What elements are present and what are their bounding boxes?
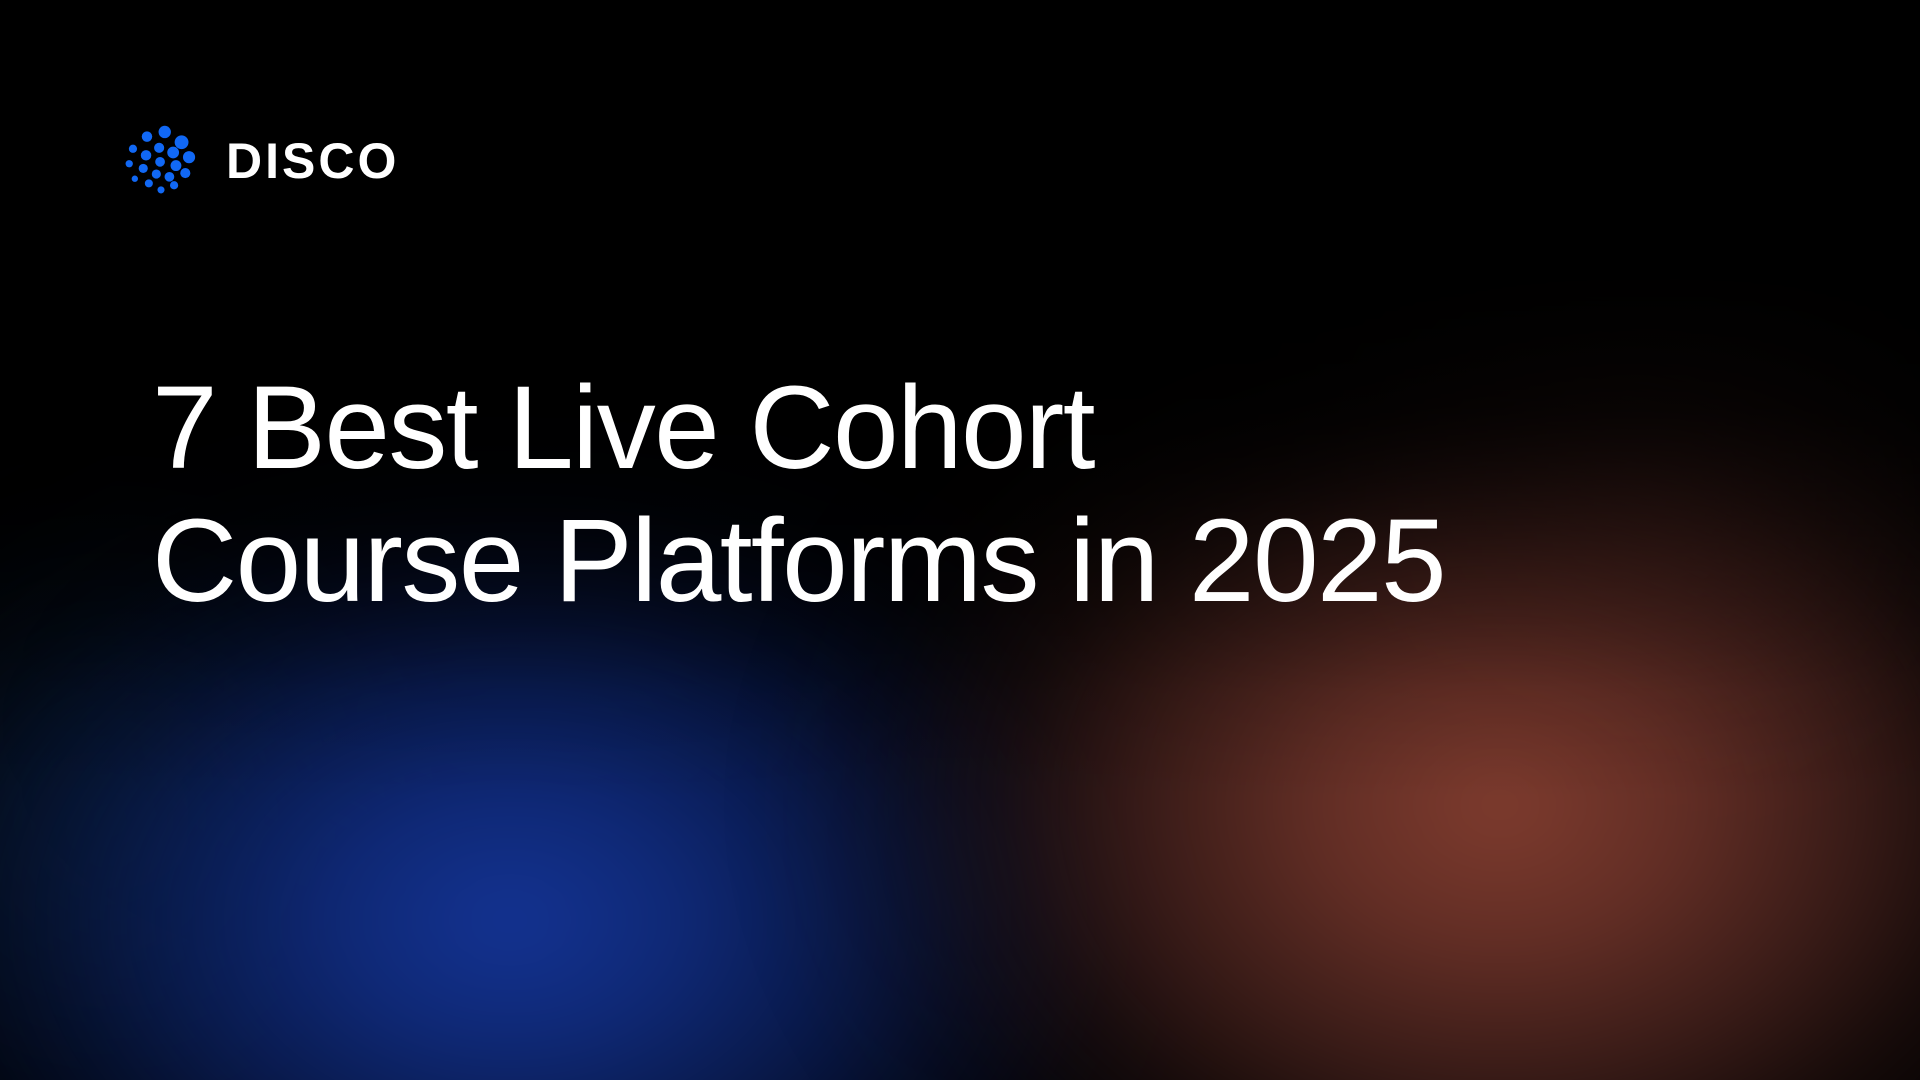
brand-wordmark: DISCO xyxy=(226,136,399,186)
page-title: 7 Best Live Cohort Course Platforms in 2… xyxy=(152,362,1582,629)
disco-logo[interactable]: DISCO xyxy=(118,114,399,206)
background-glow-red xyxy=(750,230,1920,1080)
hero-banner: DISCO 7 Best Live Cohort Course Platform… xyxy=(0,0,1920,1080)
disco-ball-dots-icon xyxy=(118,117,204,203)
